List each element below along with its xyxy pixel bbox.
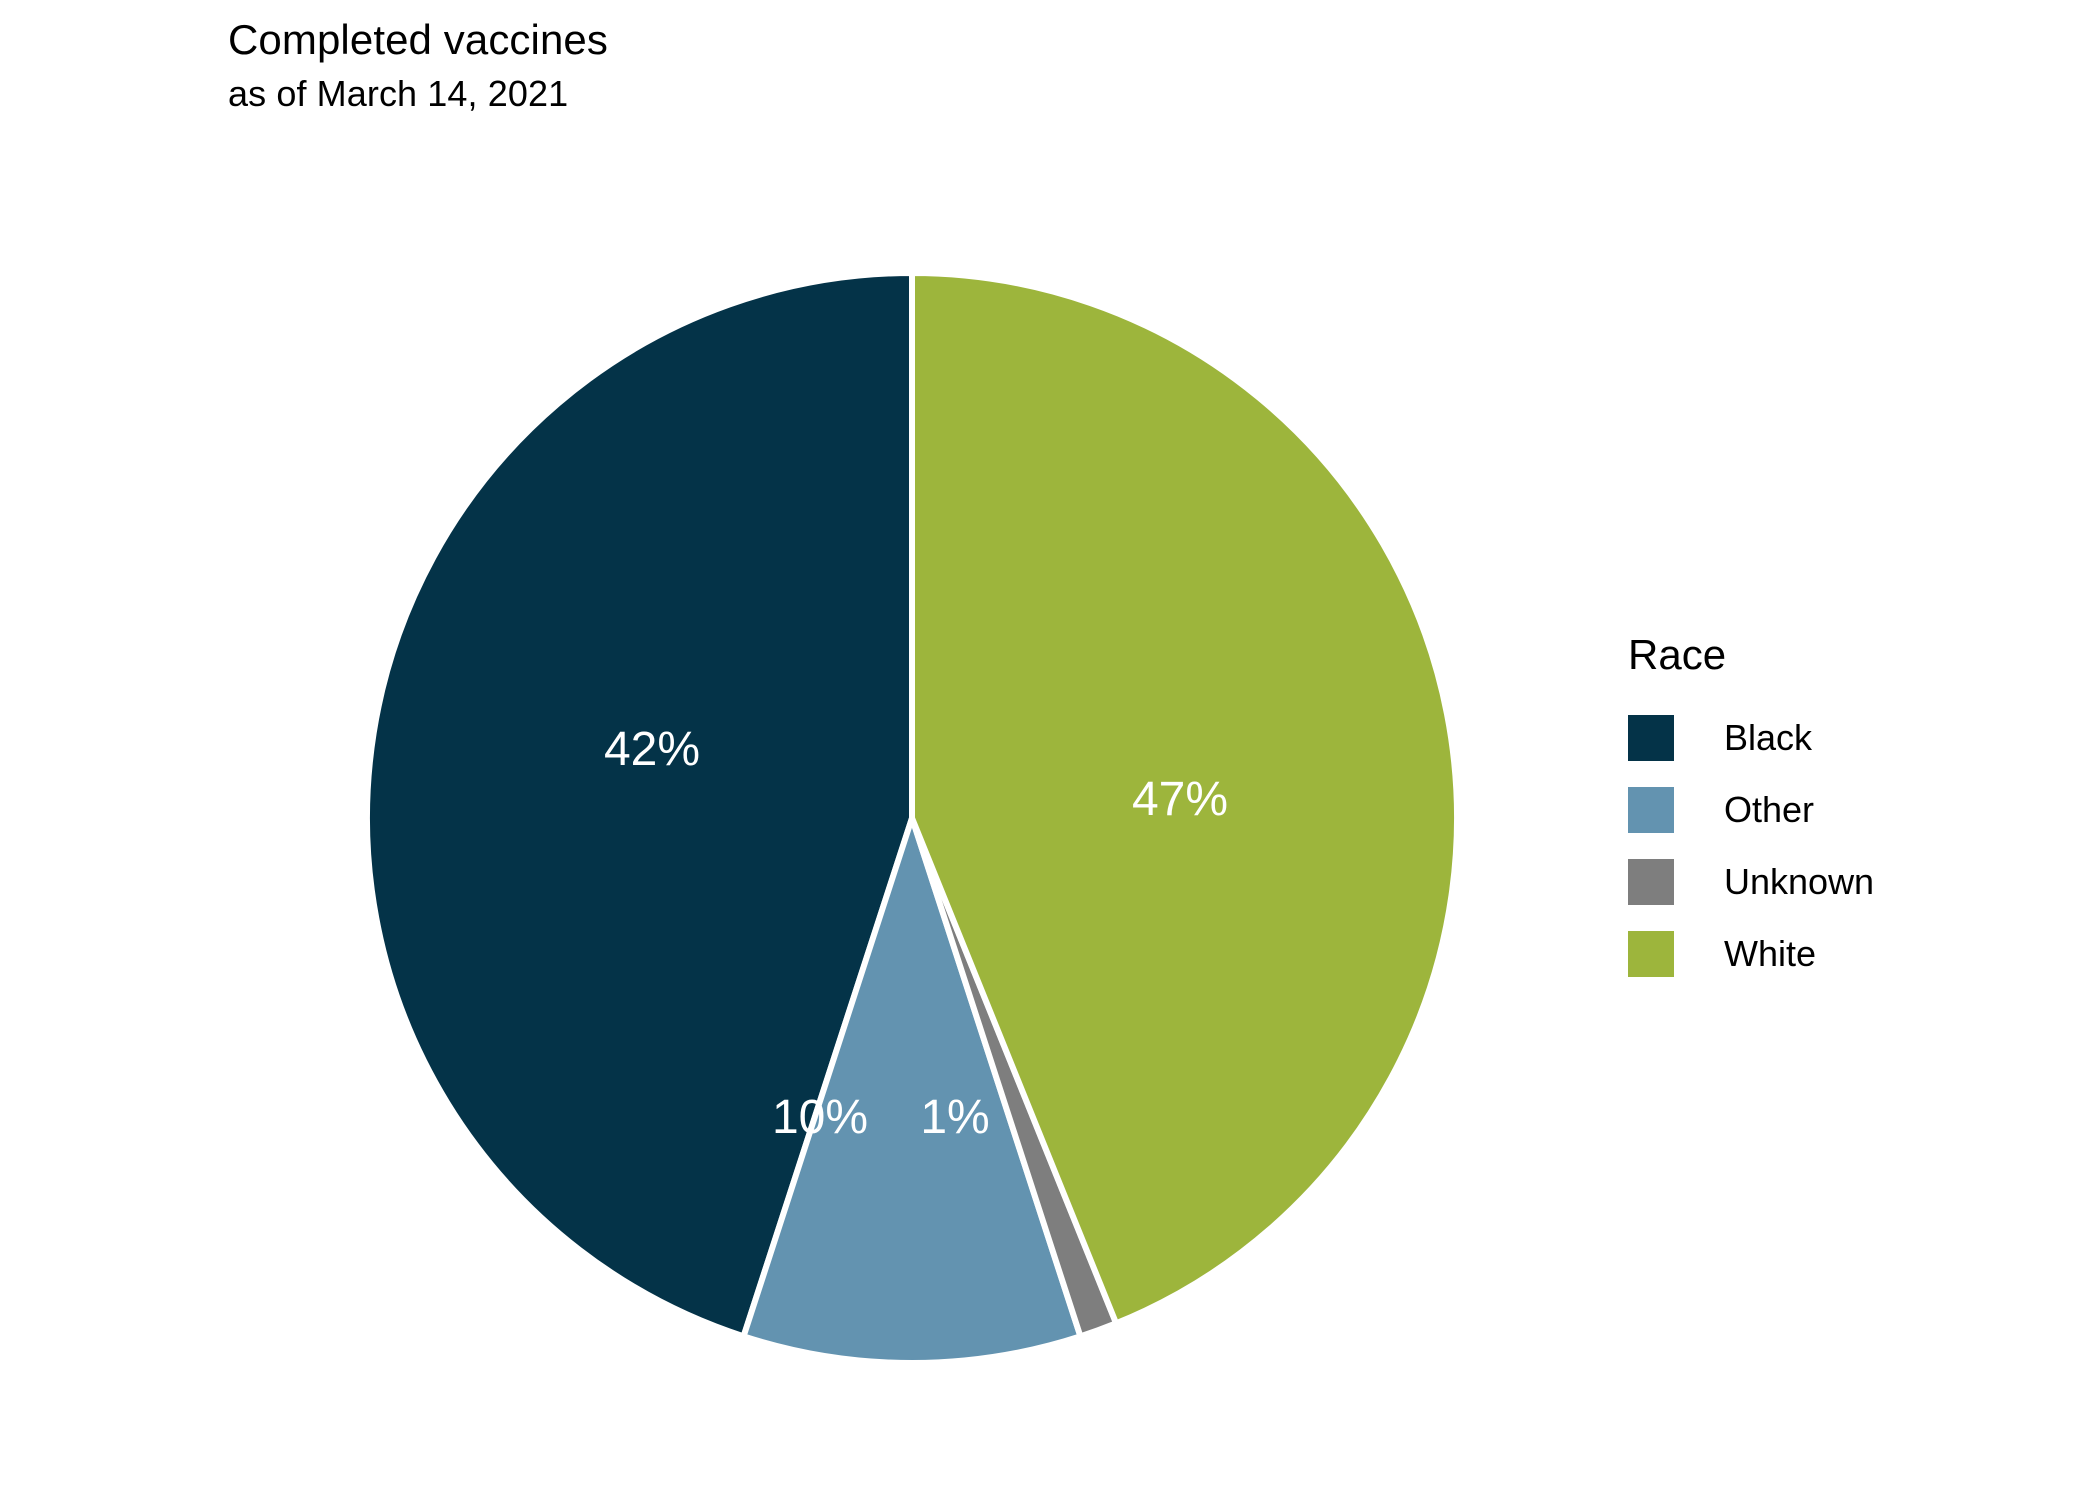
legend-swatch-white	[1628, 931, 1674, 977]
pie-chart-figure: Completed vaccines as of March 14, 2021 …	[0, 0, 2100, 1500]
legend-item-white[interactable]: White	[1628, 918, 2048, 990]
legend-item-black[interactable]: Black	[1628, 702, 2048, 774]
legend-title: Race	[1628, 630, 2048, 680]
legend-item-unknown[interactable]: Unknown	[1628, 846, 2048, 918]
slice-label-unknown: 1%	[920, 1091, 989, 1144]
pie-slices-group	[367, 273, 1457, 1363]
legend-swatch-other	[1628, 787, 1674, 833]
legend-label-other: Other	[1724, 788, 1814, 832]
legend-items: BlackOtherUnknownWhite	[1628, 702, 2048, 990]
slice-label-black: 42%	[604, 723, 700, 776]
legend-label-black: Black	[1724, 716, 1812, 760]
legend-swatch-black	[1628, 715, 1674, 761]
legend-swatch-unknown	[1628, 859, 1674, 905]
slice-label-other: 10%	[772, 1091, 868, 1144]
legend: Race BlackOtherUnknownWhite	[1628, 630, 2048, 990]
legend-item-other[interactable]: Other	[1628, 774, 2048, 846]
legend-label-unknown: Unknown	[1724, 860, 1874, 904]
slice-label-white: 47%	[1132, 773, 1228, 826]
legend-label-white: White	[1724, 932, 1816, 976]
